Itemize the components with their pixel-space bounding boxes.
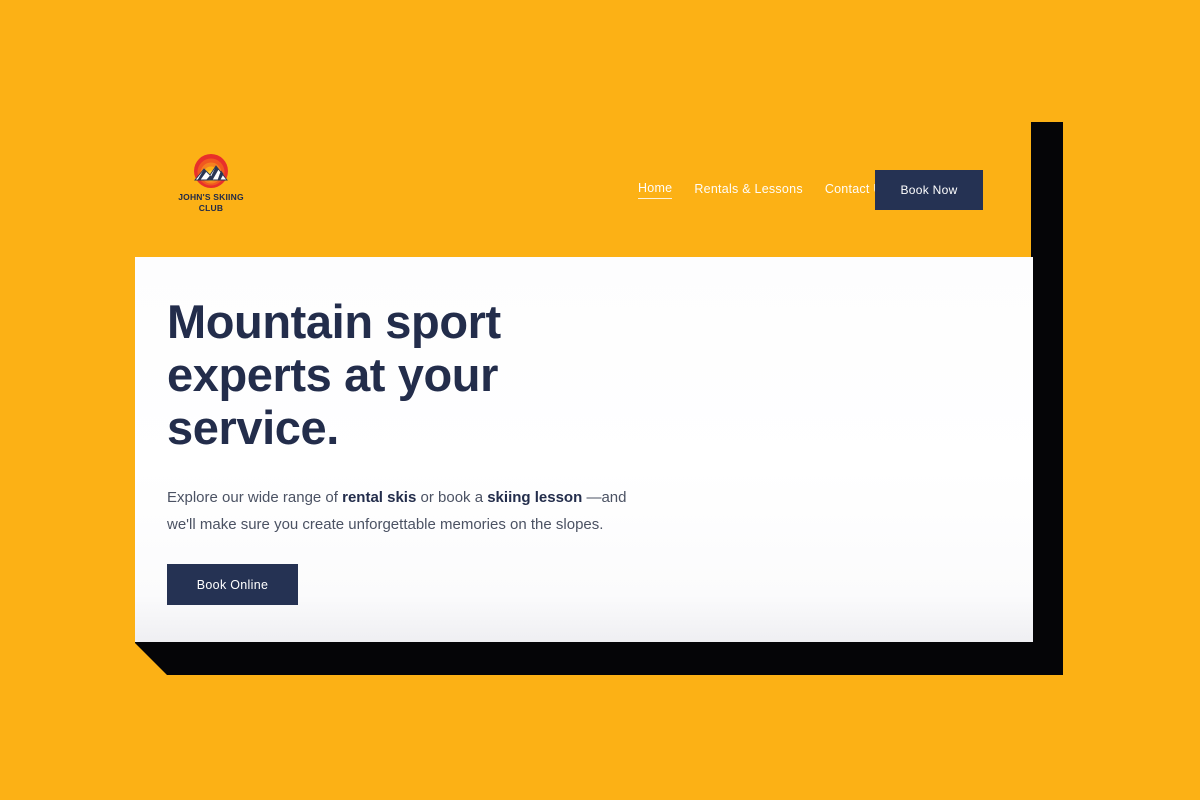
brand-name: JOHN'S SKIING CLUB bbox=[176, 192, 246, 214]
sun-mountain-logo-icon bbox=[193, 153, 229, 189]
hero-content: Mountain sport experts at your service. … bbox=[167, 295, 707, 605]
hero-paragraph-part2: or book a bbox=[421, 489, 488, 506]
nav-item-rentals-lessons[interactable]: Rentals & Lessons bbox=[694, 182, 802, 199]
nav-item-home[interactable]: Home bbox=[638, 181, 672, 199]
hero-heading: Mountain sport experts at your service. bbox=[167, 295, 527, 454]
hero-paragraph-part1: Explore our wide range of bbox=[167, 489, 342, 506]
hero-paragraph: Explore our wide range of rental skis or… bbox=[167, 484, 645, 538]
site-header: JOHN'S SKIING CLUB Home Rentals & Lesson… bbox=[0, 150, 1200, 230]
hero-paragraph-bold-rental-skis: rental skis bbox=[342, 489, 416, 506]
book-now-button[interactable]: Book Now bbox=[875, 170, 983, 210]
hero-paragraph-bold-skiing-lesson: skiing lesson bbox=[487, 489, 582, 506]
book-online-button[interactable]: Book Online bbox=[167, 564, 298, 605]
page-root: JOHN'S SKIING CLUB Home Rentals & Lesson… bbox=[0, 0, 1200, 800]
brand-logo[interactable]: JOHN'S SKIING CLUB bbox=[176, 153, 246, 214]
main-nav: Home Rentals & Lessons Contact Us bbox=[638, 181, 889, 199]
